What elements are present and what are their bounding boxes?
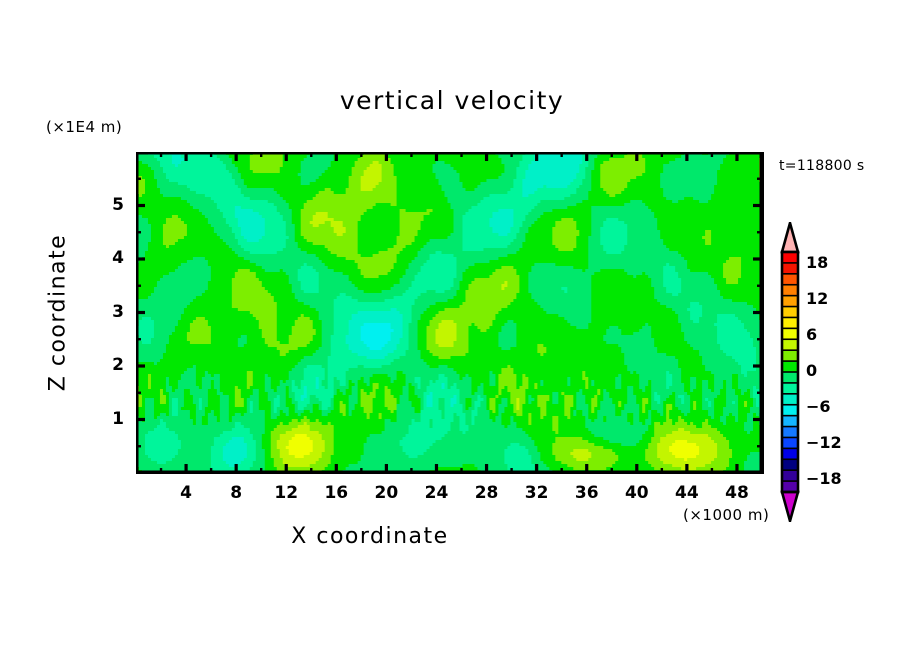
x-tick-label: 24	[411, 483, 461, 503]
x-tick-label: 36	[562, 483, 612, 503]
chart-title: vertical velocity	[0, 86, 904, 115]
y-tick-label: 4	[98, 248, 124, 268]
colorbar-tick-label: −6	[806, 397, 831, 416]
y-axis-title: Z coordinate	[46, 233, 71, 393]
timestamp-annotation: t=118800 s	[779, 158, 864, 174]
figure-canvas: vertical velocity (×1E4 m) (×1000 m) X c…	[0, 0, 904, 654]
y-axis-unit-label: (×1E4 m)	[46, 118, 122, 136]
x-tick-label: 48	[712, 483, 762, 503]
x-tick-label: 20	[361, 483, 411, 503]
x-axis-unit-label: (×1000 m)	[683, 506, 769, 524]
x-tick-label: 16	[311, 483, 361, 503]
y-tick-label: 5	[98, 195, 124, 215]
y-tick-label: 1	[98, 409, 124, 429]
colorbar-tick-label: −18	[806, 469, 842, 488]
x-tick-label: 4	[161, 483, 211, 503]
colorbar-tick-label: 12	[806, 289, 828, 308]
colorbar-tick-label: 6	[806, 325, 817, 344]
x-tick-label: 44	[662, 483, 712, 503]
x-tick-label: 8	[211, 483, 261, 503]
y-tick-label: 2	[98, 355, 124, 375]
x-tick-label: 12	[261, 483, 311, 503]
y-tick-label: 3	[98, 302, 124, 322]
colorbar	[772, 222, 808, 522]
colorbar-tick-label: 18	[806, 253, 828, 272]
colorbar-tick-label: 0	[806, 361, 817, 380]
colorbar-tick-label: −12	[806, 433, 842, 452]
x-tick-label: 32	[512, 483, 562, 503]
contour-plot-area	[136, 152, 764, 474]
x-tick-label: 28	[462, 483, 512, 503]
x-tick-label: 40	[612, 483, 662, 503]
x-axis-title: X coordinate	[0, 524, 740, 549]
